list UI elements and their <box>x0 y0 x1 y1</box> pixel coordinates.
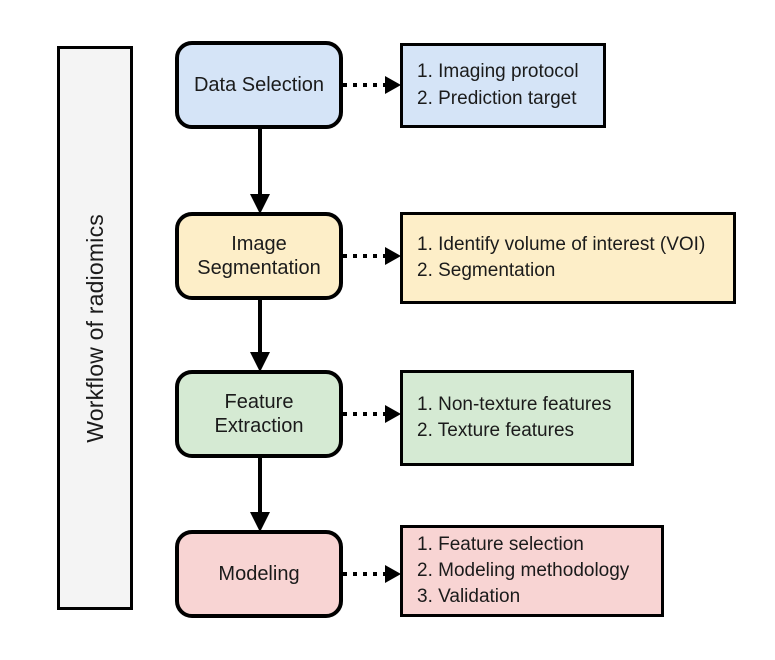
detail-line: 1. Non-texture features <box>417 392 617 418</box>
detail-line: 1. Feature selection <box>417 532 647 558</box>
dotted-arrow-feature-extraction <box>343 399 403 429</box>
detail-line: 2. Prediction target <box>417 86 589 112</box>
detail-box-feature-extraction: 1. Non-texture features 2. Texture featu… <box>400 370 634 466</box>
detail-line: 3. Validation <box>417 584 647 610</box>
detail-line: 2. Texture features <box>417 418 617 444</box>
flow-arrow-extraction-to-modeling <box>244 458 276 532</box>
dotted-arrow-modeling <box>343 559 403 589</box>
workflow-diagram: Workflow of radiomics Data Selection 1. … <box>0 0 775 660</box>
sidebar-panel: Workflow of radiomics <box>57 46 133 610</box>
stage-box-image-segmentation[interactable]: Image Segmentation <box>175 212 343 300</box>
dotted-arrow-image-segmentation <box>343 241 403 271</box>
detail-box-data-selection: 1. Imaging protocol 2. Prediction target <box>400 43 606 128</box>
flow-arrow-selection-to-segmentation <box>244 128 276 214</box>
detail-line: 1. Identify volume of interest (VOI) <box>417 232 719 258</box>
dotted-arrow-data-selection <box>343 70 403 100</box>
stage-label-image-segmentation: Image Segmentation <box>197 232 320 281</box>
detail-line: 2. Modeling methodology <box>417 558 647 584</box>
flow-arrow-segmentation-to-extraction <box>244 300 276 372</box>
detail-box-image-segmentation: 1. Identify volume of interest (VOI) 2. … <box>400 212 736 304</box>
detail-box-modeling: 1. Feature selection 2. Modeling methodo… <box>400 525 664 617</box>
detail-line: 1. Imaging protocol <box>417 59 589 85</box>
stage-label-modeling: Modeling <box>218 562 299 586</box>
stage-box-data-selection[interactable]: Data Selection <box>175 41 343 129</box>
detail-line: 2. Segmentation <box>417 258 719 284</box>
stage-box-feature-extraction[interactable]: Feature Extraction <box>175 370 343 458</box>
stage-label-data-selection: Data Selection <box>194 73 324 97</box>
stage-label-feature-extraction: Feature Extraction <box>215 390 304 439</box>
sidebar-title-label: Workflow of radiomics <box>82 214 109 443</box>
stage-box-modeling[interactable]: Modeling <box>175 530 343 618</box>
